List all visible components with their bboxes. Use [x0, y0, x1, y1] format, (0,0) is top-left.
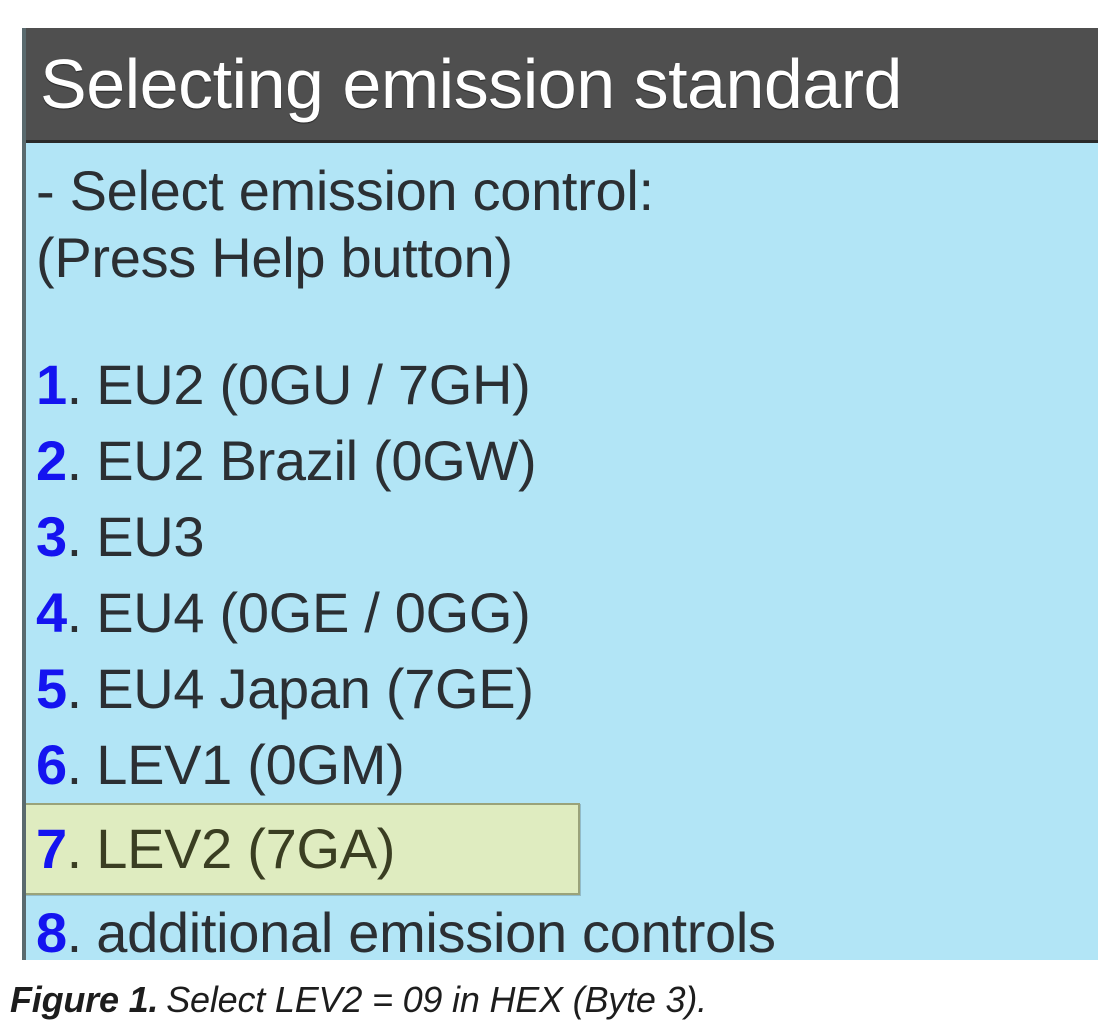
option-label: EU4 Japan (7GE) [96, 661, 534, 717]
option-index: 5 [36, 661, 67, 717]
option-dot: . [67, 433, 97, 489]
option-row-7-selected[interactable]: 7 . LEV2 (7GA) [24, 803, 580, 895]
option-row-6[interactable]: 6 . LEV1 (0GM) [36, 727, 1098, 803]
instruction-line-2: (Press Help button) [36, 224, 1098, 291]
option-row-4[interactable]: 4 . EU4 (0GE / 0GG) [36, 575, 1098, 651]
option-dot: . [67, 661, 97, 717]
option-row-8[interactable]: 8 . additional emission controls [36, 895, 1098, 960]
page-title: Selecting emission standard [26, 49, 902, 119]
option-row-2[interactable]: 2 . EU2 Brazil (0GW) [36, 423, 1098, 499]
option-row-5[interactable]: 5 . EU4 Japan (7GE) [36, 651, 1098, 727]
option-row-1[interactable]: 1 . EU2 (0GU / 7GH) [36, 347, 1098, 423]
screen-body: - Select emission control: (Press Help b… [26, 143, 1098, 960]
option-dot: . [67, 585, 97, 641]
list-spacer [36, 291, 1098, 347]
option-label: EU2 Brazil (0GW) [96, 433, 536, 489]
screen-titlebar: Selecting emission standard [26, 28, 1098, 143]
option-index: 6 [36, 737, 67, 793]
emission-standard-screen: Selecting emission standard - Select emi… [22, 28, 1098, 960]
option-dot: . [67, 905, 97, 960]
option-index: 8 [36, 905, 67, 960]
instruction-line-1: - Select emission control: [36, 157, 1098, 224]
option-label: LEV2 (7GA) [96, 821, 395, 877]
option-row-3[interactable]: 3 . EU3 [36, 499, 1098, 575]
option-dot: . [67, 509, 97, 565]
option-dot: . [67, 821, 97, 877]
option-index: 7 [36, 821, 67, 877]
option-label: LEV1 (0GM) [96, 737, 404, 793]
figure-caption: Figure 1.Select LEV2 = 09 in HEX (Byte 3… [10, 982, 707, 1018]
figure-caption-label: Figure 1. [10, 979, 158, 1020]
option-index: 1 [36, 357, 67, 413]
emission-option-list: 1 . EU2 (0GU / 7GH) 2 . EU2 Brazil (0GW)… [36, 347, 1098, 960]
option-label: additional emission controls [96, 905, 776, 960]
option-index: 4 [36, 585, 67, 641]
option-label: EU2 (0GU / 7GH) [96, 357, 530, 413]
option-label: EU3 [96, 509, 204, 565]
option-label: EU4 (0GE / 0GG) [96, 585, 530, 641]
option-index: 3 [36, 509, 67, 565]
option-dot: . [67, 737, 97, 793]
figure-caption-text: Select LEV2 = 09 in HEX (Byte 3). [158, 979, 707, 1020]
option-index: 2 [36, 433, 67, 489]
option-dot: . [67, 357, 97, 413]
